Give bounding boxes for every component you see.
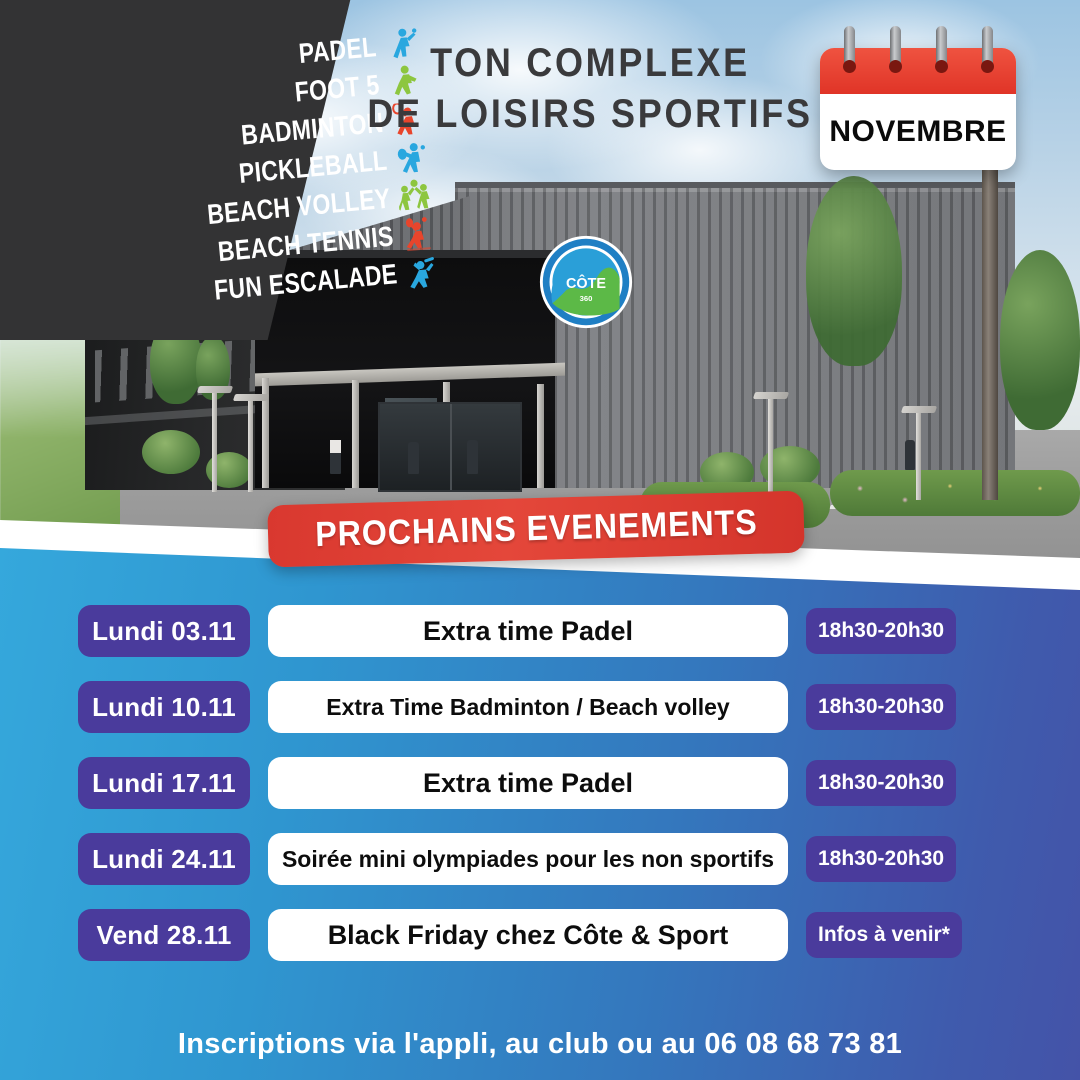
calendar-ring [844, 26, 855, 70]
volleyball-players-icon [397, 177, 434, 216]
person-figure [330, 440, 341, 474]
event-title-pill: Extra Time Badminton / Beach volley [268, 681, 788, 733]
event-date-badge: Lundi 03.11 [78, 605, 250, 657]
event-time-badge: Infos à venir* [806, 912, 962, 958]
table-row[interactable]: Lundi 24.11 Soirée mini olympiades pour … [0, 833, 1080, 885]
poster: CÔTE 360 PADEL FOOT 5 [0, 0, 1080, 1080]
tennis-player-icon [400, 215, 437, 254]
canopy-post [537, 384, 544, 488]
calendar-month-label: NOVEMBRE [820, 94, 1016, 170]
calendar-ring [890, 26, 901, 70]
footer-contact: Inscriptions via l'appli, au club ou au … [0, 1028, 1080, 1061]
flower-bed [830, 470, 1080, 516]
svg-text:CÔTE: CÔTE [566, 274, 606, 292]
bush [142, 430, 200, 474]
person-figure [905, 440, 915, 470]
entrance-doors [378, 402, 522, 492]
street-lamp [916, 412, 921, 500]
calendar-ring [936, 26, 947, 70]
event-time-badge: 18h30-20h30 [806, 608, 956, 654]
headline: TON COMPLEXE DE LOISIRS SPORTIFS [330, 38, 850, 140]
event-date-badge: Lundi 17.11 [78, 757, 250, 809]
table-row[interactable]: Lundi 17.11 Extra time Padel 18h30-20h30 [0, 757, 1080, 809]
pickleball-player-icon [393, 139, 430, 178]
event-title-pill: Extra time Padel [268, 757, 788, 809]
street-lamp [212, 392, 217, 492]
headline-line-2: DE LOISIRS SPORTIFS [356, 89, 824, 140]
events-list: Lundi 03.11 Extra time Padel 18h30-20h30… [0, 605, 1080, 985]
svg-text:360: 360 [580, 294, 593, 303]
table-row[interactable]: Vend 28.11 Black Friday chez Côte & Spor… [0, 909, 1080, 961]
tree [806, 176, 902, 366]
event-date-badge: Lundi 24.11 [78, 833, 250, 885]
event-time-badge: 18h30-20h30 [806, 836, 956, 882]
event-title-pill: Extra time Padel [268, 605, 788, 657]
tree [1000, 250, 1080, 430]
event-date-badge: Lundi 10.11 [78, 681, 250, 733]
table-row[interactable]: Lundi 03.11 Extra time Padel 18h30-20h30 [0, 605, 1080, 657]
calendar-ring [982, 26, 993, 70]
calendar-icon: NOVEMBRE [820, 48, 1016, 170]
event-time-badge: 18h30-20h30 [806, 684, 956, 730]
headline-line-1: TON COMPLEXE [356, 38, 824, 89]
person-figure [467, 440, 478, 474]
event-title-pill: Black Friday chez Côte & Sport [268, 909, 788, 961]
utility-pole [982, 150, 998, 500]
event-title-pill: Soirée mini olympiades pour les non spor… [268, 833, 788, 885]
street-lamp [248, 400, 253, 492]
event-time-badge: 18h30-20h30 [806, 760, 956, 806]
person-figure [408, 442, 419, 474]
event-date-badge: Vend 28.11 [78, 909, 250, 961]
climbing-player-icon [404, 252, 441, 291]
canopy-post [352, 380, 359, 488]
street-lamp [768, 398, 773, 494]
events-banner-title: PROCHAINS EVENEMENTS [314, 503, 757, 555]
table-row[interactable]: Lundi 10.11 Extra Time Badminton / Beach… [0, 681, 1080, 733]
cote-sport-logo: CÔTE 360 [538, 234, 634, 330]
